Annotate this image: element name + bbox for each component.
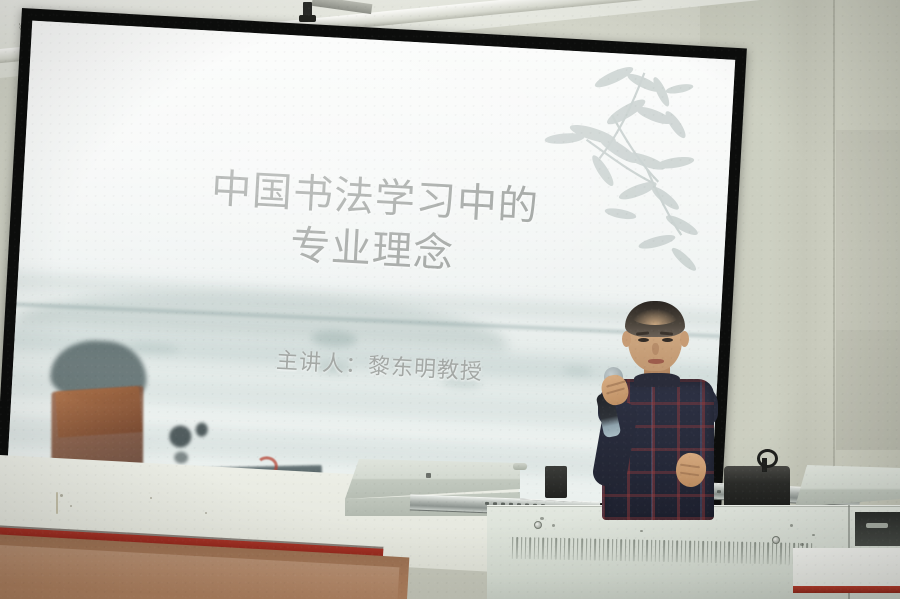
mouth <box>648 359 664 364</box>
shirt-collar <box>634 373 680 387</box>
desk-knob-icon <box>513 463 527 470</box>
cabinet-screw-1 <box>534 521 542 529</box>
wall-patch-upper <box>836 130 900 330</box>
cabinet-dirt-5 <box>800 543 804 546</box>
wall-cable <box>56 492 58 514</box>
wall-speck-2 <box>70 505 72 507</box>
wall-patch-lower <box>836 330 900 450</box>
ceiling-projector-mount-icon <box>303 2 312 20</box>
small-black-device <box>545 466 567 498</box>
presenter <box>596 305 721 520</box>
wall-speck-4 <box>205 512 207 514</box>
wall-seam <box>833 0 835 520</box>
ink-dot-1 <box>169 425 192 448</box>
ear-right <box>680 331 689 347</box>
microphone-holder-hook-icon <box>757 449 773 471</box>
forehead-highlight <box>632 309 678 325</box>
nose <box>652 343 659 355</box>
desk-screw-icon <box>426 473 431 478</box>
cabinet-dirt-2 <box>552 524 555 527</box>
cabinet-dark-slot <box>855 512 900 546</box>
black-monitor-back <box>724 466 790 508</box>
cabinet-dirt-6 <box>812 534 815 536</box>
white-side-panel <box>793 548 900 586</box>
cabinet-dirt-1 <box>540 517 544 520</box>
wall-speck-1 <box>60 494 63 497</box>
ink-dot-3 <box>174 451 189 464</box>
cabinet-dirt-4 <box>790 524 793 527</box>
bamboo-icon <box>482 56 724 298</box>
eye-left <box>638 338 649 342</box>
eye-right <box>662 338 673 342</box>
cabinet-screw-2 <box>772 536 780 544</box>
wall-speck-3 <box>150 497 152 499</box>
cabinet-dirt-3 <box>640 530 643 532</box>
ink-dot-2 <box>195 422 208 437</box>
red-accent-strip <box>793 586 900 593</box>
lecture-hall-photo: ⌇⌇ ⌐ <box>0 0 900 599</box>
ink-chair-back <box>55 386 142 437</box>
slot-handle-icon <box>866 523 888 528</box>
